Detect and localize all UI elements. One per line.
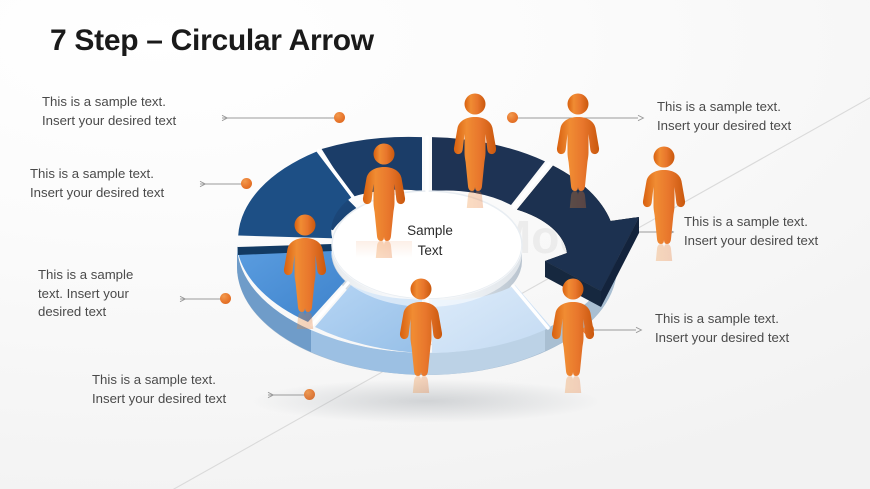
- step-label-3: This is a sample text. Insert your desir…: [38, 266, 133, 322]
- circular-arrow-diagram: SlideModel .com: [215, 85, 645, 430]
- page-title: 7 Step – Circular Arrow: [50, 24, 374, 58]
- step-label-5: This is a sample text. Insert your desir…: [657, 98, 791, 135]
- step-label-2: This is a sample text. Insert your desir…: [30, 165, 164, 202]
- slide-canvas: 7 Step – Circular Arrow This is a sample…: [0, 0, 870, 489]
- figure-5[interactable]: [545, 275, 601, 393]
- figure-3[interactable]: [550, 90, 606, 208]
- step-label-1: This is a sample text. Insert your desir…: [42, 93, 176, 130]
- figure-6[interactable]: [393, 275, 449, 393]
- step-label-7: This is a sample text. Insert your desir…: [655, 310, 789, 347]
- center-sample-text: Sample Text: [215, 221, 645, 260]
- step-label-6: This is a sample text. Insert your desir…: [684, 213, 818, 250]
- figure-2[interactable]: [447, 90, 503, 208]
- step-label-4: This is a sample text. Insert your desir…: [92, 371, 226, 408]
